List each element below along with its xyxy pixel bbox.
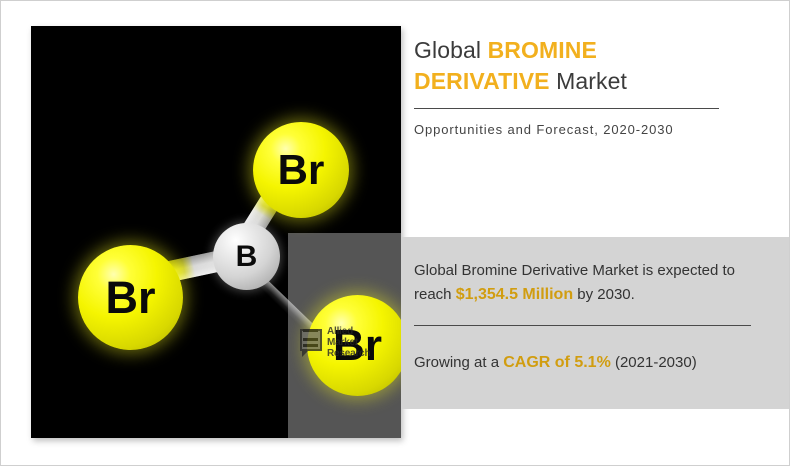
molecule-image-panel: Br Br B Br Allied Market Research (31, 26, 401, 438)
stat-market-value: Global Bromine Derivative Market is expe… (414, 259, 766, 307)
stats-divider (414, 325, 751, 326)
atom-boron-center: B (213, 223, 280, 290)
header-block: Global BROMINEDERIVATIVE Market Opportun… (414, 35, 734, 137)
title-divider (414, 108, 719, 109)
title-prefix: Global (414, 37, 488, 63)
stat-secondary-suffix: (2021-2030) (611, 354, 697, 371)
atom-bromine-top: Br (253, 122, 349, 218)
stat-primary-value: $1,354.5 Million (456, 286, 573, 303)
page-title: Global BROMINEDERIVATIVE Market (414, 35, 734, 97)
atom-bromine-bottom: Br (307, 295, 401, 396)
title-suffix: Market (550, 68, 627, 94)
title-highlight-bromine: BROMINE (488, 37, 597, 63)
content-column: Global BROMINEDERIVATIVE Market Opportun… (401, 1, 790, 466)
stat-cagr: Growing at a CAGR of 5.1% (2021-2030) (414, 352, 774, 374)
stat-secondary-value: CAGR of 5.1% (503, 354, 611, 371)
atom-bromine-left: Br (78, 245, 183, 350)
statistics-panel: Global Bromine Derivative Market is expe… (401, 237, 790, 409)
page-subtitle: Opportunities and Forecast, 2020-2030 (414, 122, 734, 137)
title-highlight-derivative: DERIVATIVE (414, 68, 550, 94)
stat-primary-suffix: by 2030. (573, 286, 635, 303)
stat-secondary-prefix: Growing at a (414, 354, 503, 371)
infographic-root: Br Br B Br Allied Market Research Global… (0, 0, 790, 466)
